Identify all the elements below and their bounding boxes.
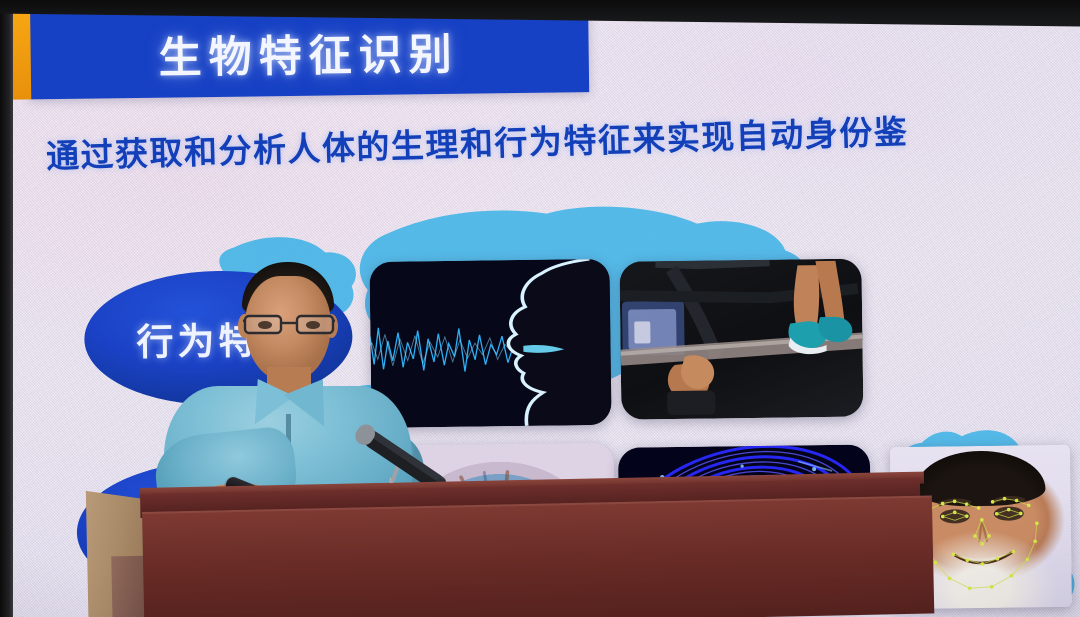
- slide-title-banner: 生物特征识别: [28, 6, 589, 99]
- facial-landmark-mesh-icon: [890, 445, 1072, 609]
- microphone: [322, 382, 452, 552]
- fingerprint-icon: [618, 444, 872, 610]
- fingerprint-recognition-thumbnail: [618, 444, 872, 610]
- treadmill-runner-illustration: [619, 259, 863, 420]
- eyeglasses-icon: [243, 312, 335, 336]
- iris-highlight-primary: [492, 514, 508, 530]
- iris-highlight-secondary: [511, 535, 523, 546]
- room-left-edge: [0, 0, 13, 617]
- face-profile-silhouette-icon: [469, 259, 611, 427]
- presentation-photo: 生物特征识别 通过获取和分析人体的生理和行为特征来实现自动身份鉴 行为特征 生理…: [0, 0, 1080, 617]
- slide-subtitle: 通过获取和分析人体的生理和行为特征来实现自动身份鉴: [45, 98, 1080, 178]
- gait-recognition-thumbnail: [619, 259, 863, 420]
- slide-title: 生物特征识别: [158, 20, 459, 86]
- face-recognition-thumbnail: [890, 445, 1072, 609]
